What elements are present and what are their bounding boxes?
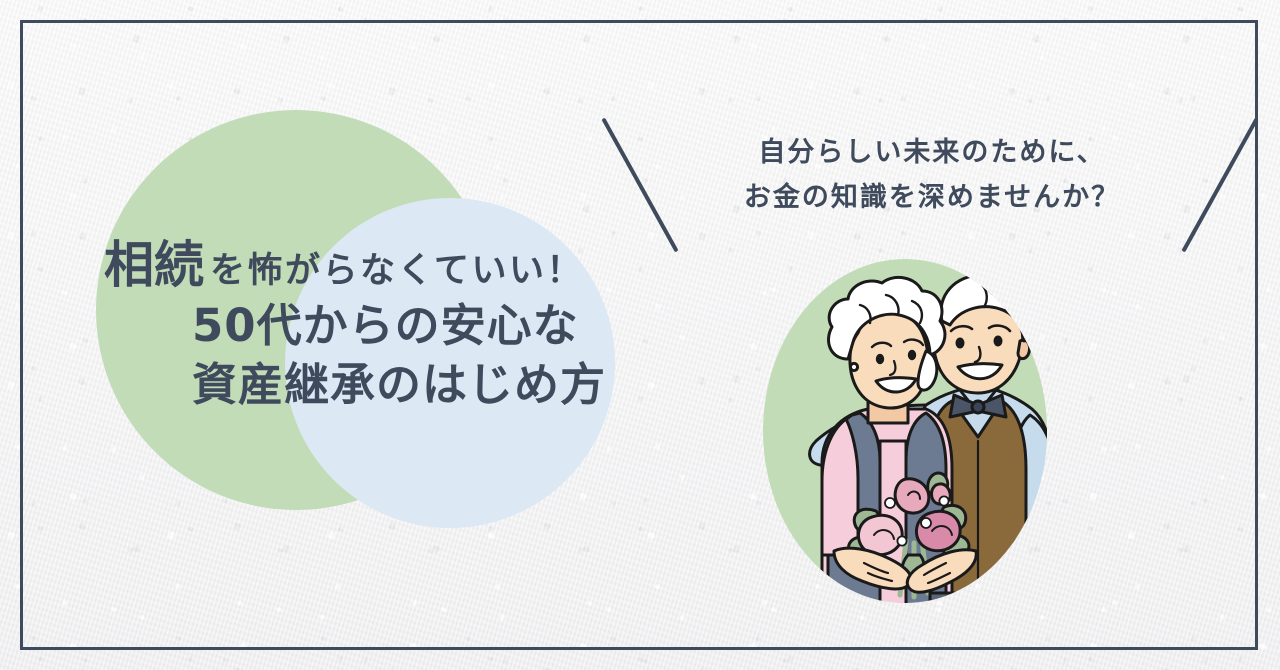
decorative-slash-right-icon [1181, 118, 1258, 253]
woman-left-eye [876, 354, 884, 364]
woman-right-eye [908, 350, 916, 360]
subtitle-line-2: お金の知識を深めませんか？ [722, 176, 1142, 221]
decorative-slash-left-icon [601, 118, 678, 253]
banner-root: 相続 を怖がらなくていい！ 50代からの安心な 資産継承のはじめ方 自分らしい未… [0, 0, 1280, 670]
headline-line-3: 資産継承のはじめ方 [104, 355, 704, 414]
man-left-eye [956, 338, 965, 349]
headline-line-2: 50代からの安心な [104, 296, 704, 355]
man-hair-strand-2 [1004, 289, 1009, 311]
woman-earring [850, 363, 857, 370]
headline-block: 相続 を怖がらなくていい！ 50代からの安心な 資産継承のはじめ方 [104, 240, 704, 415]
subtitle-text: 自分らしい未来のために、 お金の知識を深めませんか？ [722, 131, 1142, 220]
subtitle-block: 自分らしい未来のために、 お金の知識を深めませんか？ [610, 105, 1250, 265]
headline-line-1-rest: を怖がらなくていい！ [204, 254, 584, 289]
bouquet-rose-top [895, 479, 929, 513]
headline-emphasis-kanji: 相続 [104, 240, 204, 290]
man-bowtie-knot [972, 401, 984, 413]
bouquet-rose-right [916, 511, 960, 551]
man-trousers [930, 593, 1026, 605]
man-right-eye [994, 336, 1003, 347]
man-ear [1018, 340, 1030, 359]
illustration-elderly-couple [730, 255, 1080, 605]
subtitle-line-1: 自分らしい未来のために、 [722, 131, 1142, 176]
